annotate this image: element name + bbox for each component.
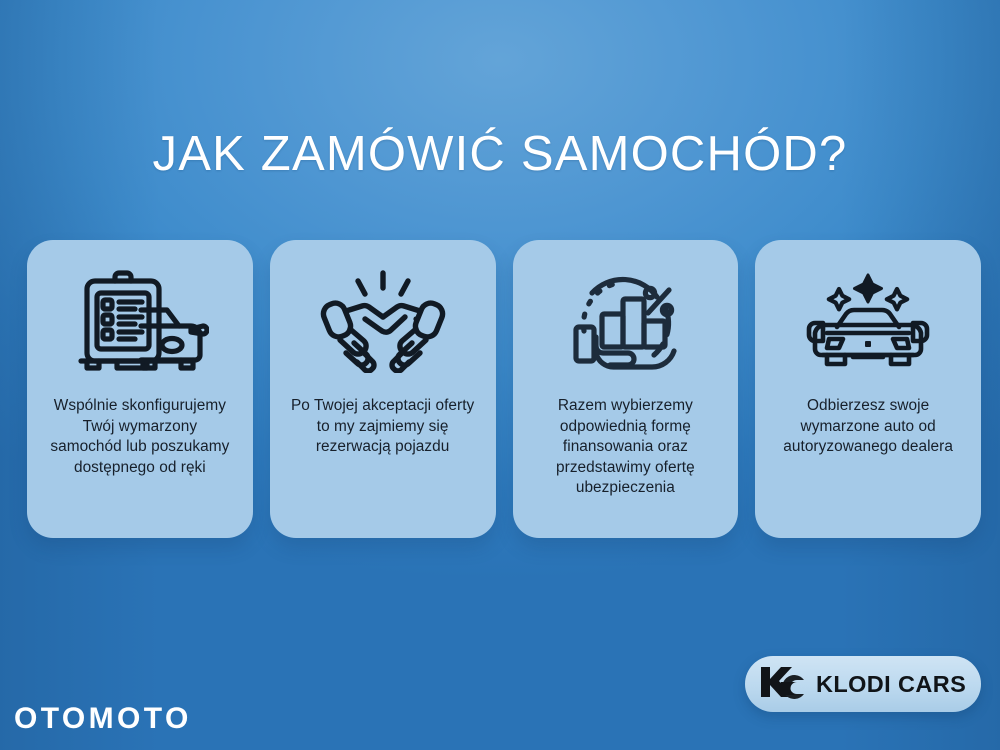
hand-bar-chart-percent-icon — [562, 240, 688, 396]
otomoto-logo[interactable]: OTOMOTO — [14, 702, 192, 736]
klodi-cars-logo-text: KLODI CARS — [816, 671, 966, 697]
step-card-1[interactable]: Wspólnie skonfigurujemy Twój wymarzony s… — [27, 240, 253, 538]
handshake-icon — [320, 240, 446, 396]
step-card-3[interactable]: Razem wybierzemy odpowiednią formę finan… — [513, 240, 739, 538]
poster-canvas: JAK ZAMÓWIĆ SAMOCHÓD? — [0, 0, 1000, 750]
step-card-2[interactable]: Po Twojej akceptacji oferty to my zajmie… — [270, 240, 496, 538]
klodi-cars-logo-badge[interactable]: KLODI CARS — [745, 656, 981, 712]
step-card-3-text: Razem wybierzemy odpowiednią formę finan… — [544, 396, 707, 499]
clipboard-car-icon — [71, 240, 209, 396]
kc-monogram-icon — [758, 664, 812, 704]
step-card-4[interactable]: Odbierzesz swoje wymarzone auto od autor… — [755, 240, 981, 538]
sports-car-sparkle-icon — [801, 240, 935, 396]
page-title: JAK ZAMÓWIĆ SAMOCHÓD? — [0, 126, 1000, 182]
steps-card-row: Wspólnie skonfigurujemy Twój wymarzony s… — [27, 240, 981, 538]
step-card-2-text: Po Twojej akceptacji oferty to my zajmie… — [279, 396, 486, 458]
otomoto-logo-text: OTOMOTO — [14, 702, 192, 736]
step-card-1-text: Wspólnie skonfigurujemy Twój wymarzony s… — [38, 396, 241, 478]
step-card-4-text: Odbierzesz swoje wymarzone auto od autor… — [771, 396, 965, 458]
